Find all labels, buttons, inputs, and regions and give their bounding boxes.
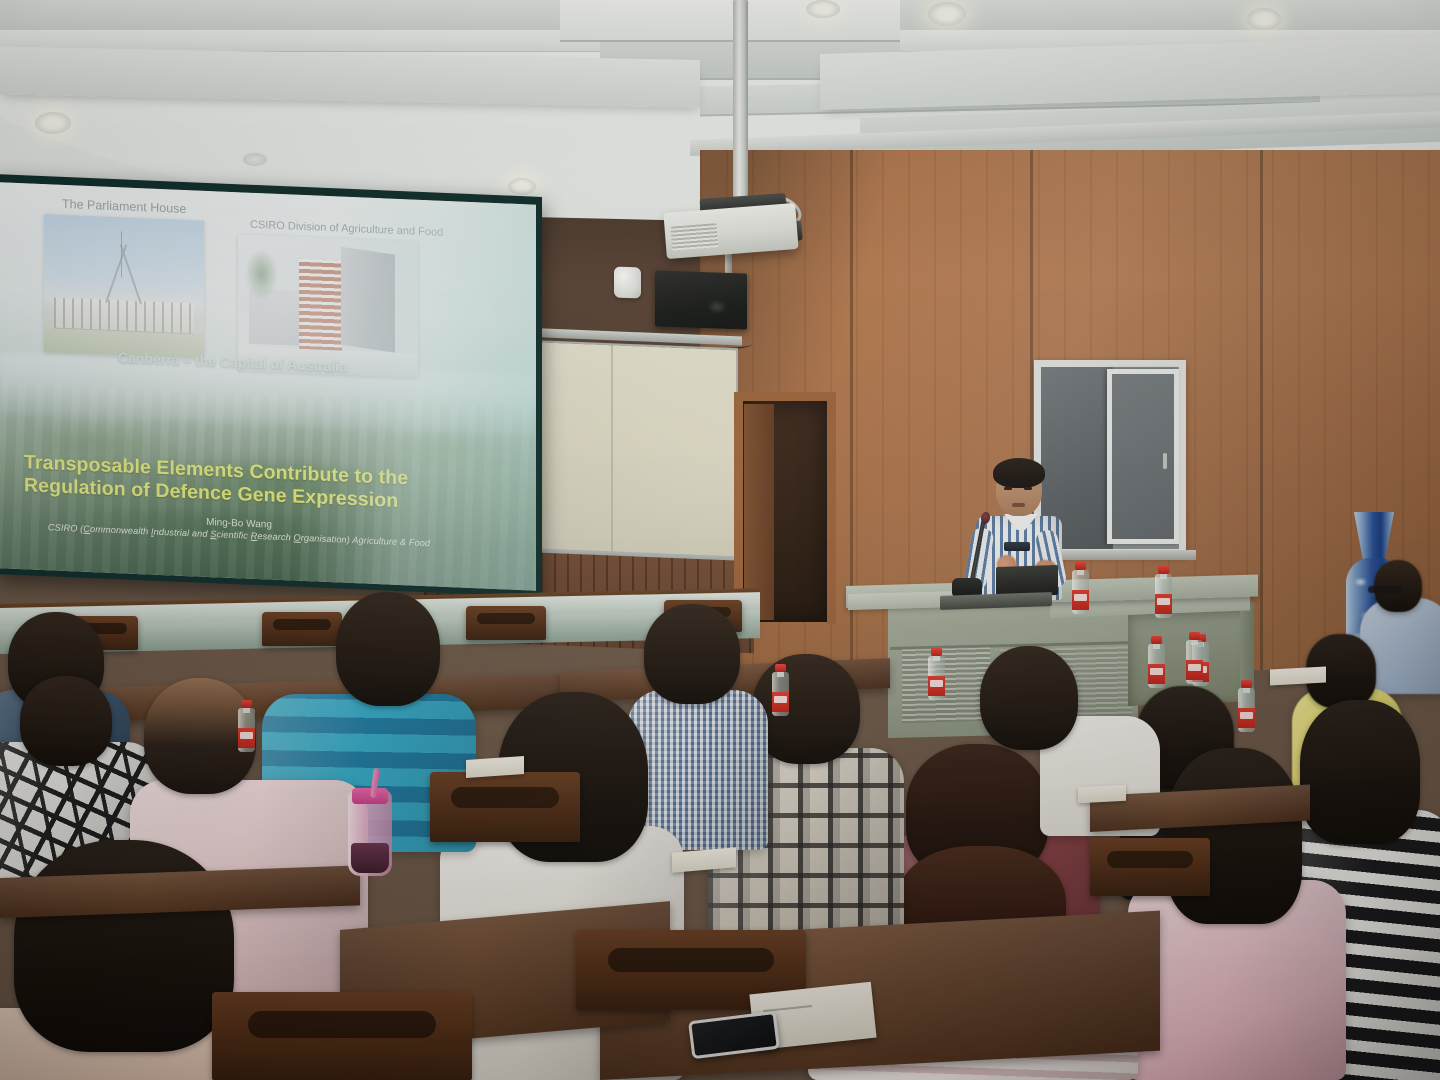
audience-head	[980, 646, 1078, 750]
bottle-cap	[241, 700, 252, 708]
bottle-cap	[1151, 636, 1162, 644]
bottle-body	[1155, 574, 1172, 618]
csiro-tower	[299, 259, 342, 351]
smoke-detector-dome	[614, 267, 641, 299]
audience-head	[336, 592, 440, 706]
bottle-cap	[1158, 566, 1169, 574]
chair-back[interactable]	[1090, 838, 1210, 896]
chair-slot	[273, 619, 331, 629]
bottle-label	[1155, 594, 1172, 614]
chair-back[interactable]	[466, 606, 546, 640]
ceiling-downlight-3	[508, 178, 536, 195]
csiro-slab	[341, 247, 395, 353]
ceiling-downlight-6	[1247, 8, 1281, 30]
bottle-cap	[775, 664, 786, 672]
ceiling-downlight-1	[35, 112, 71, 134]
podium-vent-left	[902, 647, 990, 723]
bottle-cap	[1189, 632, 1200, 640]
vase-neck	[1354, 512, 1394, 564]
water-bottle[interactable]	[238, 700, 255, 752]
bottle-label	[1072, 590, 1089, 610]
projector-vent	[670, 223, 718, 251]
bottle-body	[928, 656, 945, 700]
ceiling-downlight-2	[243, 153, 267, 166]
parliament-flagmast-right	[120, 244, 142, 304]
presenter-shirt-pocket	[1004, 542, 1030, 551]
audience-head	[752, 654, 860, 764]
presenter-mouth	[1012, 503, 1025, 507]
chair-slot	[451, 787, 559, 808]
bottle-label	[1186, 660, 1203, 680]
bottle-body	[772, 672, 789, 716]
water-bottle[interactable]	[1186, 632, 1203, 684]
water-bottle[interactable]	[1072, 562, 1089, 614]
pink-water-bottle[interactable]	[348, 768, 392, 876]
slide-photo-parliament-house	[44, 214, 204, 359]
audience-head	[644, 604, 740, 704]
wall-seam-3	[1260, 150, 1263, 670]
chair-slot	[1107, 851, 1193, 868]
bottle-label	[1238, 708, 1255, 728]
affil-r-rest: esearch	[257, 531, 293, 543]
water-bottle[interactable]	[772, 664, 789, 716]
affil-prefix: CSIRO (	[48, 522, 83, 533]
audience-head	[1166, 748, 1302, 924]
paper-on-desk[interactable]	[1078, 785, 1126, 804]
window-handle[interactable]	[1163, 453, 1167, 469]
water-bottle[interactable]	[1148, 636, 1165, 688]
bottle-label	[1148, 664, 1165, 684]
presenter-eye-left	[1004, 487, 1012, 490]
water-bottle[interactable]	[1155, 566, 1172, 618]
audience-head	[1300, 700, 1420, 844]
water-bottle[interactable]	[1238, 680, 1255, 732]
lecture-hall-photo: The Parliament House CSIRO Division of A…	[0, 0, 1440, 1080]
bottle-cap	[931, 648, 942, 656]
bottle-body	[1186, 640, 1203, 684]
projection-screen-frame: The Parliament House CSIRO Division of A…	[0, 174, 542, 597]
affil-s-rest: cientific	[216, 529, 250, 540]
audience-head	[20, 676, 112, 766]
pink-bottle-liquid	[351, 843, 389, 873]
chair-slot	[248, 1011, 435, 1037]
projection-screen: The Parliament House CSIRO Division of A…	[0, 182, 536, 590]
eyeglasses	[1368, 586, 1402, 593]
bottle-body	[238, 708, 255, 752]
parliament-colonnade	[54, 297, 195, 333]
chair-back[interactable]	[430, 772, 580, 842]
csiro-tree	[245, 248, 277, 301]
presenter-hair	[993, 458, 1045, 488]
bottle-cap	[1075, 562, 1086, 570]
chair-back[interactable]	[212, 992, 472, 1080]
bottle-label	[238, 728, 255, 748]
paper-on-desk[interactable]	[1270, 667, 1326, 686]
water-bottle[interactable]	[928, 648, 945, 700]
bottle-body	[1072, 570, 1089, 614]
bottle-label	[928, 676, 945, 696]
bottle-cap	[1241, 680, 1252, 688]
wall-speaker	[655, 270, 747, 329]
chair-slot	[477, 613, 535, 623]
bottle-label	[772, 692, 789, 712]
window-sash-sliding[interactable]	[1107, 369, 1179, 544]
microphone-base	[952, 578, 982, 596]
chair-back[interactable]	[262, 612, 342, 646]
presenter-eye-right	[1024, 487, 1032, 490]
ceiling-downlight-5	[928, 2, 966, 26]
bottle-body	[1148, 644, 1165, 688]
projector-mount-pole	[733, 0, 748, 200]
ceiling-step-a	[560, 0, 900, 42]
bottle-body	[1238, 688, 1255, 732]
chair-slot	[608, 948, 774, 972]
ceiling-downlight-4	[806, 0, 840, 18]
parliament-flagpole	[121, 231, 123, 277]
affil-o: O	[293, 533, 300, 543]
